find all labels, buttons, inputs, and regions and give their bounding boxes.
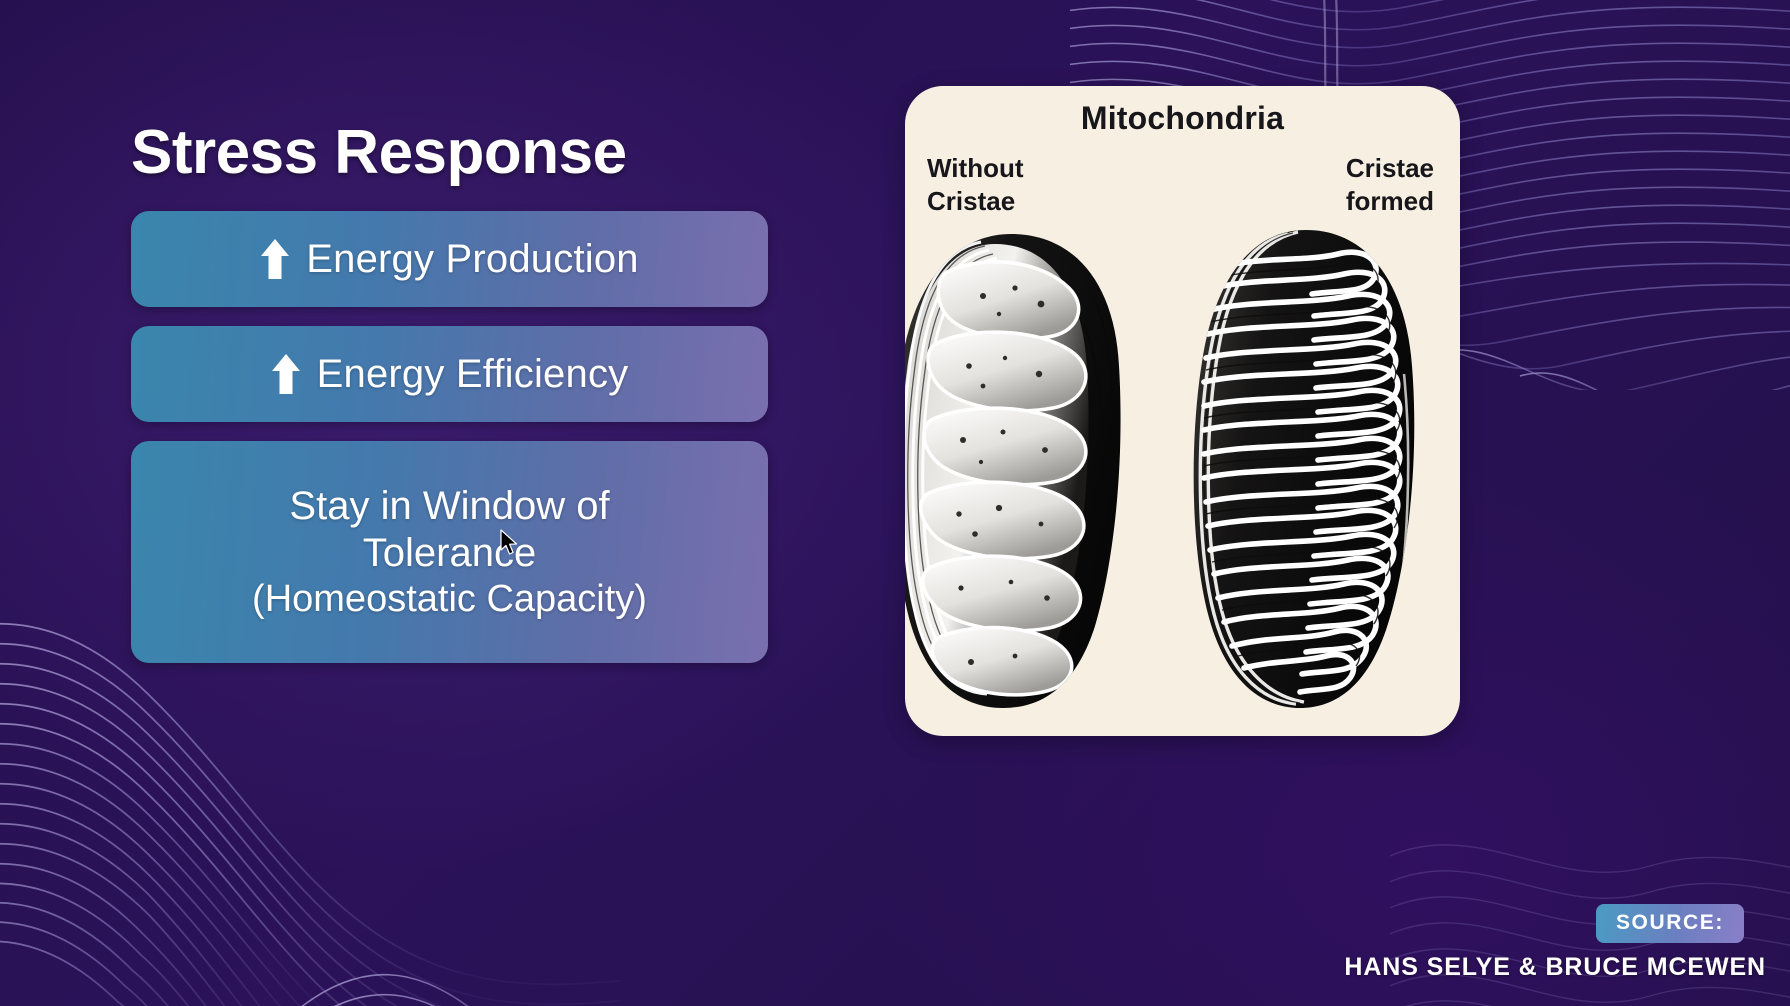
- mitochondrion-without-cristae-illustration: [905, 226, 1163, 716]
- page-title: Stress Response: [131, 120, 771, 185]
- card-content: Energy Production: [238, 237, 660, 282]
- point-card-label: Energy Production: [306, 237, 638, 282]
- point-card-window-of-tolerance[interactable]: Stay in Window of Tolerance (Homeostatic…: [131, 441, 768, 663]
- point-card-sublabel: (Homeostatic Capacity): [252, 577, 647, 621]
- label-line-1: Cristae: [1346, 152, 1434, 185]
- source-authors: HANS SELYE & BRUCE MCEWEN: [1344, 953, 1766, 982]
- arrow-up-icon: [260, 238, 290, 280]
- card-content: Energy Efficiency: [249, 352, 651, 397]
- label-cristae-formed: Cristae formed: [1346, 152, 1434, 219]
- left-content-column: Stress Response Energy Production Energy…: [131, 120, 771, 682]
- card-content: Stay in Window of Tolerance (Homeostatic…: [230, 483, 669, 621]
- point-card-text-stack: Stay in Window of Tolerance (Homeostatic…: [252, 483, 647, 621]
- point-card-label: Energy Efficiency: [317, 352, 629, 397]
- source-badge: SOURCE:: [1596, 904, 1744, 943]
- label-without-cristae: Without Cristae: [927, 152, 1024, 219]
- mitochondria-illustration-panel: Mitochondria Without Cristae Cristae for…: [905, 86, 1460, 736]
- label-line-2: Cristae: [927, 185, 1024, 218]
- point-card-energy-production[interactable]: Energy Production: [131, 211, 768, 307]
- slide-canvas: Stress Response Energy Production Energy…: [0, 0, 1790, 1006]
- point-card-label-line1: Stay in Window of: [252, 483, 647, 530]
- illustration-title: Mitochondria: [905, 100, 1460, 137]
- label-line-1: Without: [927, 152, 1024, 185]
- point-card-energy-efficiency[interactable]: Energy Efficiency: [131, 326, 768, 422]
- label-line-2: formed: [1346, 185, 1434, 218]
- mitochondrion-cristae-formed-illustration: [1160, 224, 1452, 714]
- arrow-up-icon: [271, 353, 301, 395]
- point-card-label-line2: Tolerance: [252, 530, 647, 577]
- source-block: SOURCE: HANS SELYE & BRUCE MCEWEN: [1344, 904, 1766, 982]
